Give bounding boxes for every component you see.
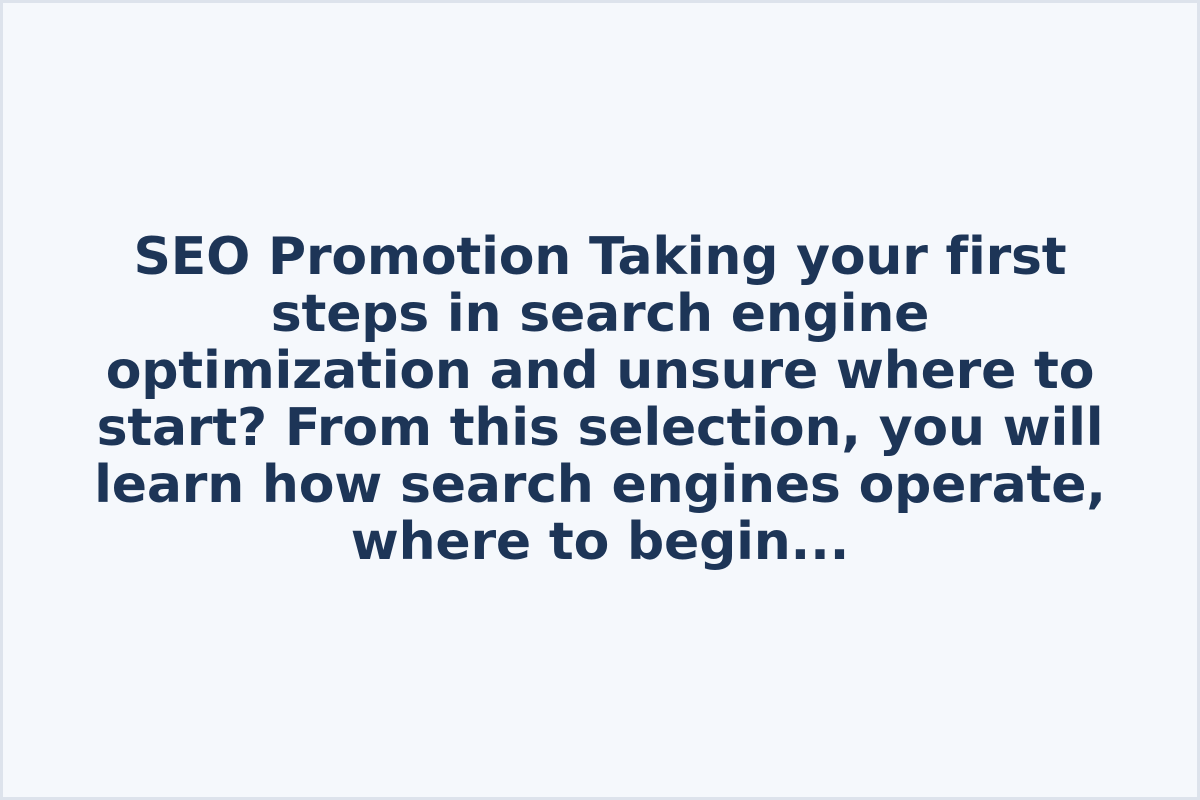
excerpt-block: SEO Promotion Taking your first steps in… xyxy=(80,229,1120,571)
excerpt-text: SEO Promotion Taking your first steps in… xyxy=(80,229,1120,571)
excerpt-card: SEO Promotion Taking your first steps in… xyxy=(0,0,1200,800)
